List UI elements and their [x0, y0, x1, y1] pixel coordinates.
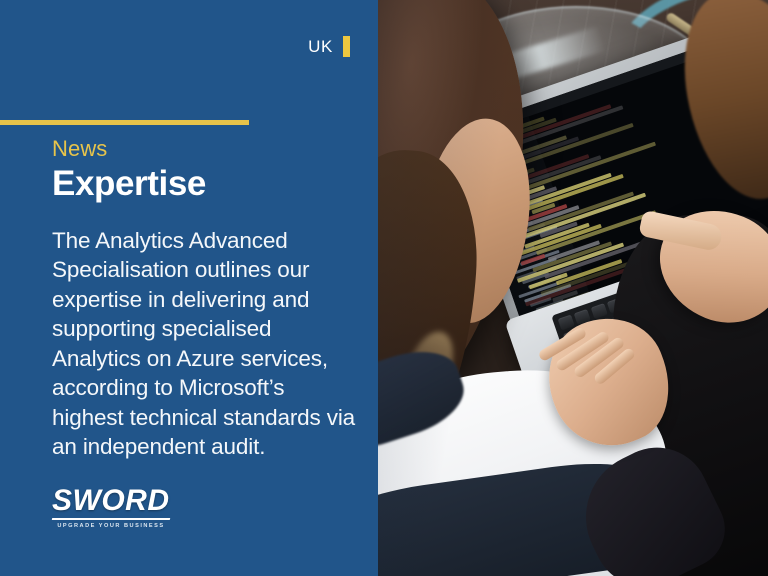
- region-accent-bar: [343, 36, 350, 57]
- logo-underline: [52, 518, 170, 520]
- page-title: Expertise: [52, 164, 206, 203]
- hero-photo: [378, 0, 768, 576]
- logo-tagline: UPGRADE YOUR BUSINESS: [52, 523, 170, 529]
- body-text: The Analytics Advanced Specialisation ou…: [52, 226, 360, 462]
- region-label: UK: [308, 38, 333, 55]
- accent-rule: [0, 120, 249, 125]
- kicker-label: News: [52, 137, 107, 161]
- keyboard-key: [591, 303, 608, 319]
- news-card: UK News Expertise The Analytics Advanced…: [0, 0, 768, 576]
- logo-wordmark: SWORD: [52, 486, 172, 516]
- content-panel: UK News Expertise The Analytics Advanced…: [0, 0, 378, 576]
- region-badge: UK: [308, 36, 350, 57]
- sword-logo: SWORD UPGRADE YOUR BUSINESS: [52, 486, 172, 529]
